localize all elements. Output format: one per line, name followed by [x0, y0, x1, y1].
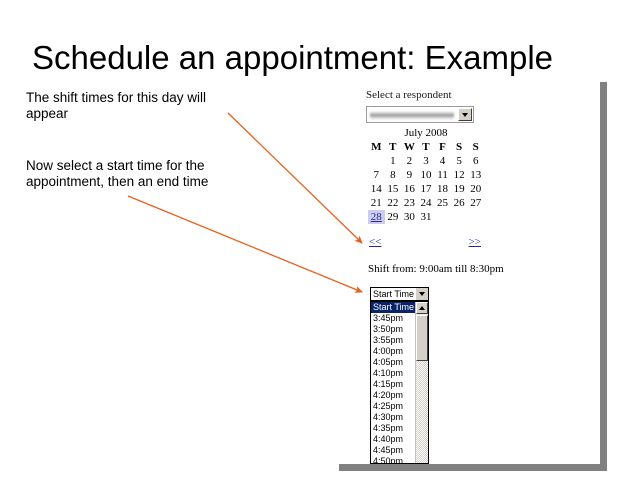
- calendar-day-12[interactable]: 12: [451, 168, 468, 182]
- calendar-day-31[interactable]: 31: [418, 210, 435, 224]
- start-time-selected-value: Start Time: [371, 288, 415, 300]
- start-time-combobox[interactable]: Start Time: [370, 287, 429, 301]
- calendar-week-row: 123456: [368, 154, 484, 168]
- start-time-option[interactable]: 3:55pm: [371, 335, 415, 346]
- calendar-day-30[interactable]: 30: [401, 210, 418, 224]
- calendar-weekday-0: M: [368, 140, 385, 154]
- calendar-day-29[interactable]: 29: [385, 210, 402, 224]
- start-time-option[interactable]: 4:20pm: [371, 390, 415, 401]
- calendar-week-row: 78910111213: [368, 168, 484, 182]
- calendar-month-title: July 2008: [368, 127, 484, 140]
- panel-shadow-bottom: [339, 464, 607, 471]
- start-time-option[interactable]: 4:25pm: [371, 401, 415, 412]
- calendar-day-9[interactable]: 9: [401, 168, 418, 182]
- annotation-select-start-time: Now select a start time for the appointm…: [26, 158, 246, 190]
- calendar-day-13[interactable]: 13: [467, 168, 484, 182]
- start-time-option[interactable]: Start Time: [371, 302, 415, 313]
- calendar-day-4[interactable]: 4: [434, 154, 451, 168]
- calendar-day-17[interactable]: 17: [418, 182, 435, 196]
- panel-shadow-right: [600, 82, 607, 471]
- calendar-day-7[interactable]: 7: [368, 168, 385, 182]
- chevron-down-icon[interactable]: [458, 108, 472, 121]
- start-time-option[interactable]: 3:45pm: [371, 313, 415, 324]
- respondent-label: Select a respondent: [366, 89, 452, 101]
- calendar-day-1[interactable]: 1: [385, 154, 402, 168]
- calendar-body: 1234567891011121314151617181920212223242…: [368, 154, 484, 224]
- calendar-day-15[interactable]: 15: [385, 182, 402, 196]
- chevron-down-icon[interactable]: [415, 288, 428, 300]
- calendar-day-27[interactable]: 27: [467, 196, 484, 210]
- shift-hours-text: Shift from: 9:00am till 8:30pm: [368, 263, 504, 275]
- scrollbar-thumb[interactable]: [416, 315, 428, 361]
- calendar-empty-cell: [368, 154, 385, 168]
- annotation-shift-times: The shift times for this day will appear: [26, 90, 241, 122]
- calendar-day-8[interactable]: 8: [385, 168, 402, 182]
- calendar-day-23[interactable]: 23: [401, 196, 418, 210]
- arrow-to-start-time: [128, 196, 362, 292]
- calendar-day-26[interactable]: 26: [451, 196, 468, 210]
- calendar-table: MTWTFSS 12345678910111213141516171819202…: [368, 140, 484, 224]
- calendar-day-3[interactable]: 3: [418, 154, 435, 168]
- calendar-day-14[interactable]: 14: [368, 182, 385, 196]
- scrollbar-track[interactable]: [416, 361, 428, 463]
- calendar-week-row: 14151617181920: [368, 182, 484, 196]
- start-time-option[interactable]: 3:50pm: [371, 324, 415, 335]
- calendar-day-22[interactable]: 22: [385, 196, 402, 210]
- calendar-day-16[interactable]: 16: [401, 182, 418, 196]
- calendar-weekday-3: T: [418, 140, 435, 154]
- respondent-selected-value: [370, 111, 454, 120]
- listbox-scrollbar[interactable]: [415, 302, 428, 463]
- calendar-empty-cell: [434, 210, 451, 224]
- caret-up-icon[interactable]: [416, 302, 428, 314]
- calendar-weekday-4: F: [434, 140, 451, 154]
- calendar-day-11[interactable]: 11: [434, 168, 451, 182]
- calendar-day-19[interactable]: 19: [451, 182, 468, 196]
- start-time-option[interactable]: 4:00pm: [371, 346, 415, 357]
- calendar-day-21[interactable]: 21: [368, 196, 385, 210]
- start-time-option[interactable]: 4:35pm: [371, 423, 415, 434]
- start-time-option[interactable]: 4:15pm: [371, 379, 415, 390]
- calendar-day-2[interactable]: 2: [401, 154, 418, 168]
- start-time-option[interactable]: 4:40pm: [371, 434, 415, 445]
- calendar-weekday-2: W: [401, 140, 418, 154]
- calendar-weekday-row: MTWTFSS: [368, 140, 484, 154]
- calendar-day-25[interactable]: 25: [434, 196, 451, 210]
- start-time-option[interactable]: 4:50pm: [371, 456, 415, 463]
- start-time-option[interactable]: 4:05pm: [371, 357, 415, 368]
- calendar-next-link[interactable]: >>: [469, 236, 481, 248]
- calendar-weekday-5: S: [451, 140, 468, 154]
- calendar-empty-cell: [451, 210, 468, 224]
- calendar-widget[interactable]: July 2008 MTWTFSS 1234567891011121314151…: [368, 127, 484, 224]
- calendar-day-24[interactable]: 24: [418, 196, 435, 210]
- calendar-day-18[interactable]: 18: [434, 182, 451, 196]
- calendar-day-selected[interactable]: 28: [368, 210, 385, 224]
- start-time-option-list[interactable]: Start Time3:45pm3:50pm3:55pm4:00pm4:05pm…: [371, 302, 415, 463]
- calendar-weekday-1: T: [385, 140, 402, 154]
- start-time-option[interactable]: 4:10pm: [371, 368, 415, 379]
- calendar-weekday-6: S: [467, 140, 484, 154]
- calendar-prev-link[interactable]: <<: [369, 236, 381, 248]
- calendar-day-5[interactable]: 5: [451, 154, 468, 168]
- calendar-week-row: 21222324252627: [368, 196, 484, 210]
- calendar-day-10[interactable]: 10: [418, 168, 435, 182]
- start-time-option[interactable]: 4:45pm: [371, 445, 415, 456]
- page-title: Schedule an appointment: Example: [32, 38, 612, 78]
- calendar-nav: << >>: [369, 236, 481, 250]
- start-time-option[interactable]: 4:30pm: [371, 412, 415, 423]
- calendar-empty-cell: [467, 210, 484, 224]
- calendar-day-6[interactable]: 6: [467, 154, 484, 168]
- calendar-day-20[interactable]: 20: [467, 182, 484, 196]
- calendar-week-row: 28293031: [368, 210, 484, 224]
- start-time-listbox[interactable]: Start Time3:45pm3:50pm3:55pm4:00pm4:05pm…: [370, 301, 429, 464]
- respondent-select[interactable]: [366, 106, 474, 123]
